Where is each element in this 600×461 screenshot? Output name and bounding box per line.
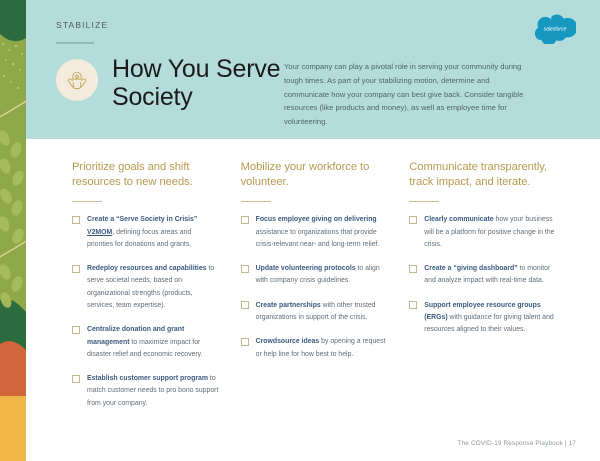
botanical-decoration-strip — [0, 0, 26, 461]
header-band: STABILIZE salesforce — [26, 0, 600, 139]
item-lead: Clearly communicate — [424, 216, 493, 223]
checklist-item-text: Centralize donation and grant management… — [87, 324, 219, 361]
hands-holding-shield-icon — [56, 59, 98, 101]
checklist-item-text: Support employee resource groups (ERGs) … — [424, 300, 556, 337]
checkbox[interactable] — [72, 375, 80, 383]
section-eyebrow-label: STABILIZE — [56, 20, 108, 30]
checklist-columns: Prioritize goals and shift resources to … — [26, 160, 600, 422]
page-title: How You Serve Society — [112, 55, 282, 111]
checkbox[interactable] — [409, 216, 417, 224]
checklist-item[interactable]: Create a “giving dashboard” to monitor a… — [409, 263, 556, 288]
title-block: How You Serve Society — [56, 55, 282, 111]
checklist-item[interactable]: Create a “Serve Society in Crisis” V2MOM… — [72, 214, 219, 251]
salesforce-logo: salesforce — [534, 14, 576, 44]
column-divider — [241, 201, 271, 202]
checklist-item[interactable]: Crowdsource ideas by opening a request o… — [241, 336, 388, 361]
checkbox[interactable] — [241, 301, 249, 309]
checkbox[interactable] — [72, 216, 80, 224]
checklist-item-text: Focus employee giving on delivering assi… — [256, 214, 388, 251]
checklist-item[interactable]: Create partnerships with other trusted o… — [241, 300, 388, 325]
checklist-item[interactable]: Redeploy resources and capabilities to s… — [72, 263, 219, 312]
v2mom-link[interactable]: V2MOM — [87, 229, 112, 236]
column-heading: Mobilize your workforce to volunteer. — [241, 160, 388, 190]
checklist-item[interactable]: Centralize donation and grant management… — [72, 324, 219, 361]
checkbox[interactable] — [241, 216, 249, 224]
page-footer: The COVID-19 Response Playbook | 17 — [458, 440, 576, 447]
checklist-item[interactable]: Establish customer support program to ma… — [72, 373, 219, 410]
checklist-item-text: Redeploy resources and capabilities to s… — [87, 263, 219, 312]
checklist-item-text: Clearly communicate how your business wi… — [424, 214, 556, 251]
checkbox[interactable] — [409, 301, 417, 309]
column-heading: Communicate transparently, track impact,… — [409, 160, 556, 190]
checkbox[interactable] — [72, 265, 80, 273]
checklist-item[interactable]: Support employee resource groups (ERGs) … — [409, 300, 556, 337]
checkbox[interactable] — [241, 265, 249, 273]
checklist-column-3: Communicate transparently, track impact,… — [409, 160, 578, 422]
checklist-item-text: Update volunteering protocols to align w… — [256, 263, 388, 288]
svg-text:salesforce: salesforce — [544, 27, 567, 33]
checklist-item[interactable]: Clearly communicate how your business wi… — [409, 214, 556, 251]
checklist-item-text: Create partnerships with other trusted o… — [256, 300, 388, 325]
checklist-item-text: Crowdsource ideas by opening a request o… — [256, 336, 388, 361]
checklist-item-text: Create a “Serve Society in Crisis” V2MOM… — [87, 214, 219, 251]
column-heading: Prioritize goals and shift resources to … — [72, 160, 219, 190]
checklist-item-text: Create a “giving dashboard” to monitor a… — [424, 263, 556, 288]
checklist-item[interactable]: Update volunteering protocols to align w… — [241, 263, 388, 288]
item-lead: Establish customer support program — [87, 375, 208, 382]
item-lead: Crowdsource ideas — [256, 338, 320, 345]
checkbox[interactable] — [409, 265, 417, 273]
column-divider — [72, 201, 102, 202]
checklist-item-text: Establish customer support program to ma… — [87, 373, 219, 410]
item-rest: assistance to organizations that provide… — [256, 229, 380, 248]
playbook-page: STABILIZE salesforce — [0, 0, 600, 461]
eyebrow-divider — [56, 42, 94, 44]
item-lead: Create a “Serve Society in Crisis” — [87, 216, 197, 223]
header-intro-paragraph: Your company can play a pivotal role in … — [284, 60, 534, 129]
item-lead: Create partnerships — [256, 302, 321, 309]
checkbox[interactable] — [72, 326, 80, 334]
item-lead: Create a “giving dashboard” — [424, 265, 517, 272]
item-lead: Redeploy resources and capabilities — [87, 265, 206, 272]
item-lead: Update volunteering protocols — [256, 265, 356, 272]
checklist-item[interactable]: Focus employee giving on delivering assi… — [241, 214, 388, 251]
checkbox[interactable] — [241, 338, 249, 346]
checklist-column-2: Mobilize your workforce to volunteer. Fo… — [241, 160, 410, 422]
item-lead: Focus employee giving on delivering — [256, 216, 377, 223]
column-divider — [409, 201, 439, 202]
checklist-column-1: Prioritize goals and shift resources to … — [72, 160, 241, 422]
